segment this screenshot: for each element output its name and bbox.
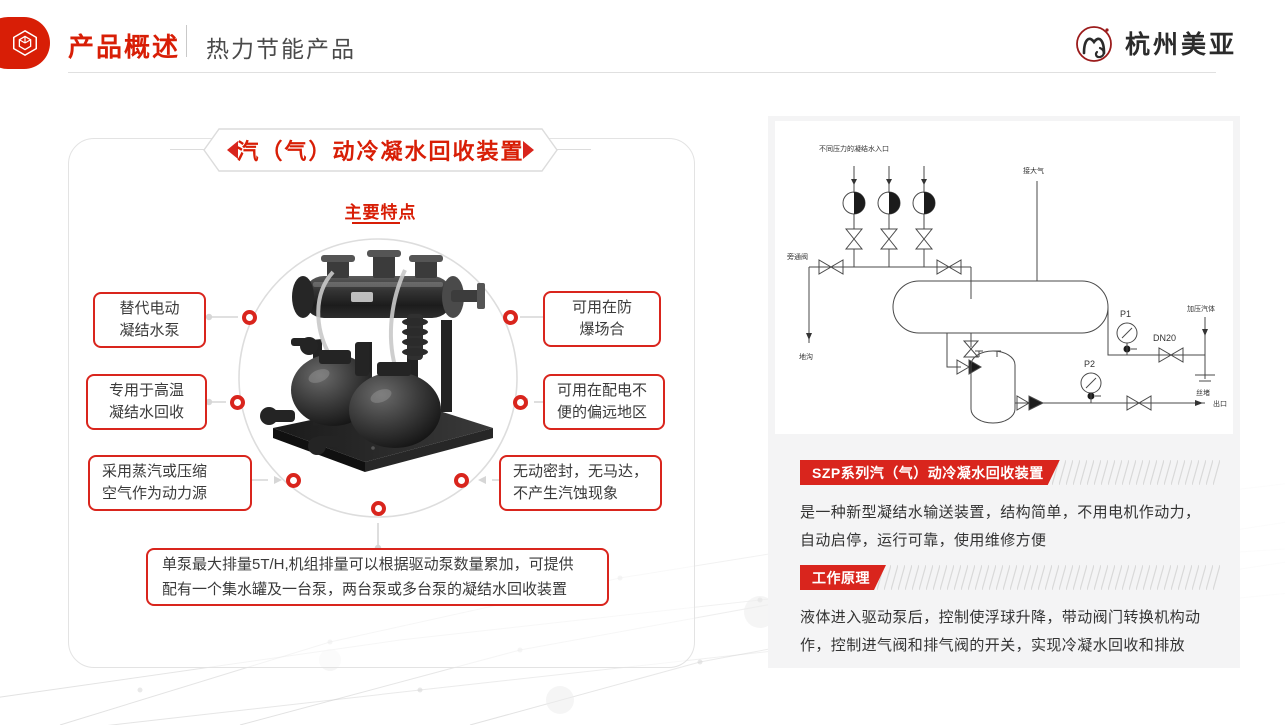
section-2-body: 液体进入驱动泵后，控制使浮球升降，带动阀门转换机构动 作，控制进气阀和排气阀的开…	[800, 604, 1220, 660]
diagram-label-inlet: 不同压力的凝结水入口	[819, 144, 889, 153]
section-1-body-line-2: 自动启停，运行可靠，使用维修方便	[800, 527, 1220, 555]
diagram-label-p1: P1	[1120, 309, 1131, 319]
section-2-body-line-1: 液体进入驱动泵后，控制使浮球升降，带动阀门转换机构动	[800, 604, 1220, 632]
page-title: 产品概述	[68, 27, 180, 64]
feature-1-line-2: 凝结水泵	[107, 320, 192, 342]
section-working-principle: 工作原理 液体进入驱动泵后，控制使浮球升降，带动阀门转换机构动 作，控制进气阀和…	[800, 565, 1220, 660]
bottom-note-line-2: 配有一个集水罐及一台泵，两台泵或多台泵的凝结水回收装置	[162, 577, 593, 602]
feature-4-line-2: 爆场合	[557, 319, 647, 341]
feature-box-1[interactable]: 替代电动 凝结水泵	[93, 292, 206, 348]
feature-node-6	[454, 473, 469, 488]
section-2-header: 工作原理	[800, 565, 1220, 590]
section-2-title: 工作原理	[800, 565, 886, 590]
feature-box-bottom-note[interactable]: 单泵最大排量5T/H,机组排量可以根据驱动泵数量累加，可提供 配有一个集水罐及一…	[146, 548, 609, 606]
header-rule	[68, 72, 1216, 73]
section-1-body-line-1: 是一种新型凝结水输送装置，结构简单，不用电机作动力，	[800, 499, 1220, 527]
cube-hexagon-icon	[10, 28, 40, 58]
section-product-intro: SZP系列汽（气）动冷凝水回收装置 是一种新型凝结水输送装置，结构简单，不用电机…	[800, 460, 1220, 555]
features-section-underline	[352, 222, 400, 224]
feature-box-6[interactable]: 无动密封，无马达， 不产生汽蚀现象	[499, 455, 662, 511]
section-1-title: SZP系列汽（气）动冷凝水回收装置	[800, 460, 1060, 485]
meiya-m-circle-logo-icon	[1071, 20, 1117, 66]
process-flow-diagram: 不同压力的凝结水入口 旁通阀 接大气 地沟 P1 P2 DN20 加压汽体 丝堵…	[775, 121, 1233, 434]
diagram-label-atmosphere: 接大气	[1023, 166, 1044, 175]
equipment-photo	[255, 250, 505, 485]
feature-5-line-1: 可用在配电不	[557, 380, 651, 402]
feature-3-line-1: 采用蒸汽或压缩	[102, 461, 238, 483]
feature-2-line-2: 凝结水回收	[100, 402, 193, 424]
section-1-header: SZP系列汽（气）动冷凝水回收装置	[800, 460, 1220, 485]
feature-1-line-1: 替代电动	[107, 298, 192, 320]
feature-node-2	[230, 395, 245, 410]
feature-6-line-2: 不产生汽蚀现象	[513, 483, 648, 505]
brand-badge	[0, 17, 50, 69]
diagram-label-drain: 地沟	[799, 352, 813, 361]
brand-name: 杭州美亚	[1125, 25, 1237, 61]
feature-4-line-1: 可用在防	[557, 297, 647, 319]
diagram-label-plug: 丝堵	[1196, 388, 1210, 397]
feature-2-line-1: 专用于高温	[100, 380, 193, 402]
feature-box-4[interactable]: 可用在防 爆场合	[543, 291, 661, 347]
page-subtitle: 热力节能产品	[206, 30, 356, 64]
diagram-label-dn20: DN20	[1153, 333, 1176, 343]
feature-node-7	[371, 501, 386, 516]
feature-box-5[interactable]: 可用在配电不 便的偏远地区	[543, 374, 665, 430]
page-header: 产品概述 热力节能产品 杭州美亚	[0, 0, 1285, 86]
product-title-text: 汽（气）动冷凝水回收装置	[203, 128, 558, 172]
features-section-label: 主要特点	[0, 198, 761, 223]
feature-3-line-2: 空气作为动力源	[102, 483, 238, 505]
feature-box-2[interactable]: 专用于高温 凝结水回收	[86, 374, 207, 430]
bottom-note-line-1: 单泵最大排量5T/H,机组排量可以根据驱动泵数量累加，可提供	[162, 552, 593, 577]
section-2-body-line-2: 作，控制进气阀和排气阀的开关，实现冷凝水回收和排放	[800, 632, 1220, 660]
feature-node-5	[513, 395, 528, 410]
header-divider	[186, 25, 187, 57]
feature-node-4	[503, 310, 518, 325]
feature-6-line-1: 无动密封，无马达，	[513, 461, 648, 483]
diagram-label-p2: P2	[1084, 359, 1095, 369]
diagram-label-pressurized-steam: 加压汽体	[1187, 304, 1215, 313]
diagram-label-outlet: 出口	[1213, 399, 1227, 408]
brand-logo: 杭州美亚	[1071, 20, 1237, 66]
diagram-label-bypass: 旁通阀	[787, 252, 808, 261]
feature-box-3[interactable]: 采用蒸汽或压缩 空气作为动力源	[88, 455, 252, 511]
feature-node-1	[242, 310, 257, 325]
section-1-body: 是一种新型凝结水输送装置，结构简单，不用电机作动力， 自动启停，运行可靠，使用维…	[800, 499, 1220, 555]
feature-node-3	[286, 473, 301, 488]
feature-5-line-2: 便的偏远地区	[557, 402, 651, 424]
product-title-banner: 汽（气）动冷凝水回收装置	[203, 128, 558, 172]
